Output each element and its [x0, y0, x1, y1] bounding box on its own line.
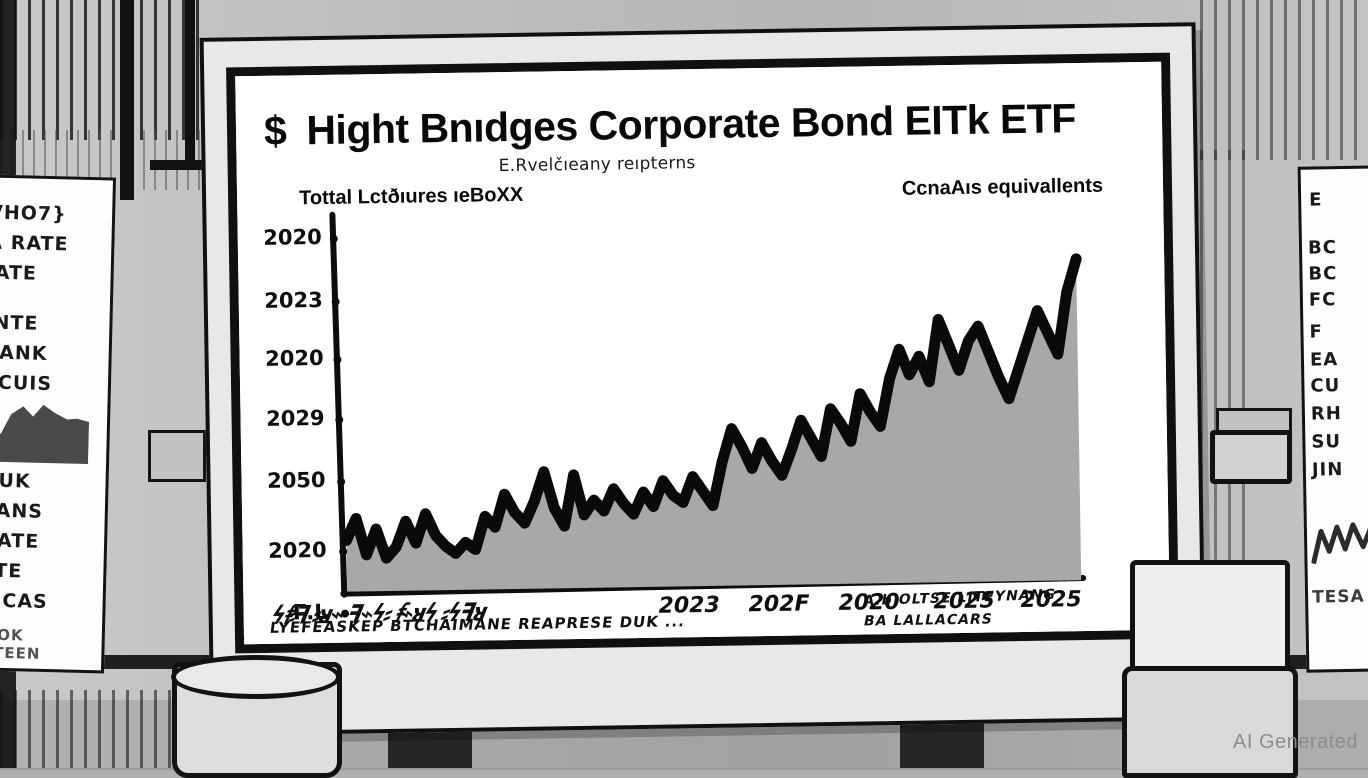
- paper-left-line-4: VANK: [0, 341, 48, 365]
- shelf-post-left2: [185, 0, 195, 170]
- paper-right-line-2: BC: [1308, 263, 1337, 285]
- chart-plot[interactable]: [235, 62, 1170, 644]
- watermark: AI Generated: [1233, 731, 1358, 754]
- paper-left-line-1: A RATE: [0, 231, 69, 255]
- paper-left-line-2: IATE: [0, 261, 37, 284]
- background-hatching-topleft: [0, 0, 210, 140]
- y-axis-tick-label: 2020: [239, 346, 323, 371]
- y-axis-tick-label: 2023: [239, 288, 323, 313]
- paper-left-line-10: AICAS: [0, 589, 48, 613]
- paper-right-line-5: EA: [1310, 349, 1339, 370]
- y-axis-tick-label: 2020: [242, 538, 326, 563]
- paper-left-mini-area-chart: [0, 399, 90, 466]
- monitor-bezel: $Hight Bnıdges Corporate Bond EITk ETF E…: [226, 53, 1179, 654]
- paper-right-line-0: E: [1309, 189, 1323, 210]
- bottle-cap: [1210, 430, 1292, 484]
- right-note-paper: E BC BC FC F EA CU RH SU JIN TESA: [1298, 165, 1368, 672]
- area-fill: [342, 259, 1081, 592]
- paper-left-line-11: E OK: [0, 625, 24, 644]
- paper-right-line-6: CU: [1310, 375, 1340, 397]
- bottle-base: [1122, 666, 1298, 778]
- paper-left-line-3: INTE: [0, 311, 39, 334]
- desk-box-left: [148, 430, 206, 482]
- monitor[interactable]: $Hight Bnıdges Corporate Bond EITk ETF E…: [200, 22, 1207, 736]
- paper-right-line-9: JIN: [1312, 459, 1344, 481]
- left-note-paper: VHO7} A RATE IATE INTE VANK TCUIS ĆUK DA…: [0, 175, 116, 674]
- paper-left-line-5: TCUIS: [0, 371, 52, 395]
- paper-right-line-7: RH: [1311, 403, 1342, 425]
- footnote-right-line2: BA LALLACARS: [862, 611, 994, 629]
- paper-right-mini-line-chart: [1311, 516, 1368, 567]
- background-hatching-topright: [1200, 0, 1368, 160]
- paper-right-line-10: TESA: [1312, 587, 1365, 608]
- paper-right-line-4: F: [1309, 321, 1323, 342]
- y-axis-tick-label: 2050: [241, 468, 325, 493]
- paper-left-line-6: ĆUK: [0, 469, 31, 492]
- coffee-mug: [172, 662, 342, 778]
- paper-left-line-7: DANS: [0, 499, 43, 523]
- y-axis-tick-label: 2029: [240, 406, 324, 431]
- paper-right-line-1: BC: [1308, 237, 1337, 259]
- paper-left-line-9: NTE: [0, 559, 23, 582]
- paper-left-line-8: CATE: [0, 529, 40, 552]
- paper-right-line-8: SU: [1311, 431, 1341, 453]
- paper-right-line-3: FC: [1309, 289, 1337, 310]
- mug-rim: [171, 655, 341, 699]
- paper-left-line-12: STEEN: [0, 643, 41, 662]
- paper-left-line-0: VHO7}: [0, 201, 67, 225]
- y-axis-tick-label: 2020: [238, 225, 322, 250]
- shelf-post-left: [120, 0, 134, 200]
- screen[interactable]: $Hight Bnıdges Corporate Bond EITk ETF E…: [235, 62, 1170, 644]
- x-axis-tick-label: 202F: [748, 591, 809, 617]
